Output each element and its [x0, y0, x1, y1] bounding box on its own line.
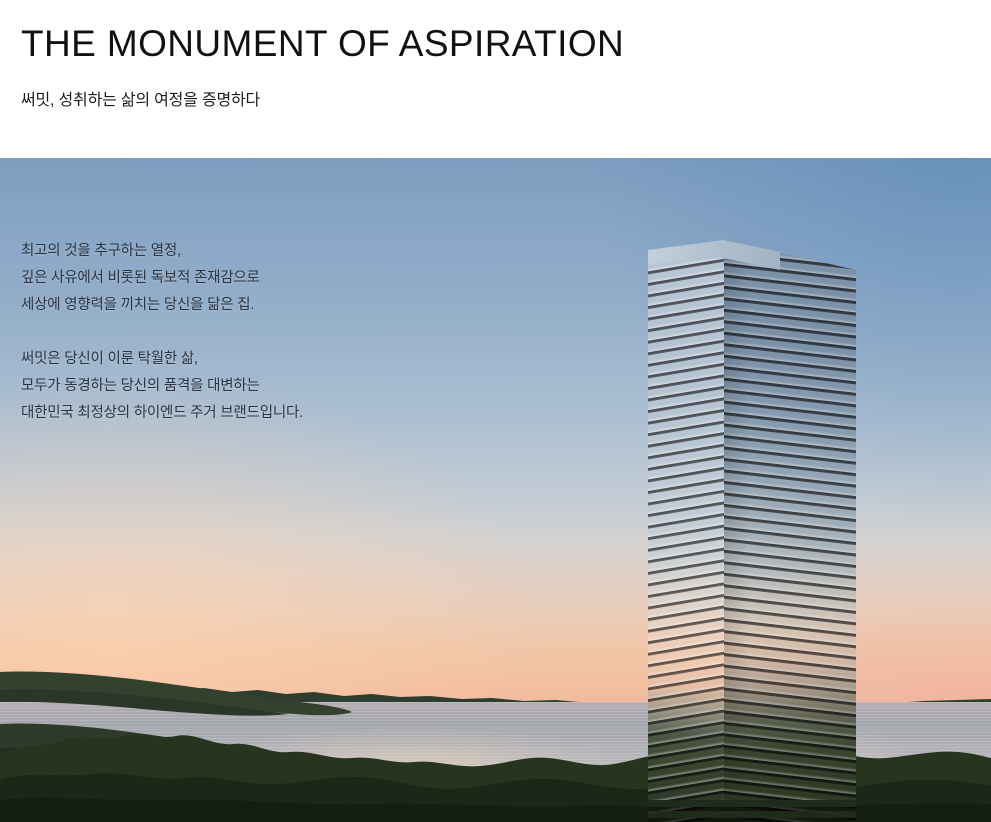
page-root: THE MONUMENT OF ASPIRATION 써밋, 성취하는 삶의 여… — [0, 0, 991, 822]
hero-copy-line-4: 써밋은 당신이 이룬 탁월한 삶, — [21, 346, 303, 373]
tower-corner-shading — [724, 240, 750, 822]
hero-copy-line-3: 세상에 영향력을 끼치는 당신을 닮은 집. — [21, 292, 303, 319]
page-header: THE MONUMENT OF ASPIRATION 써밋, 성취하는 삶의 여… — [0, 0, 991, 158]
hero-copy-line-1: 최고의 것을 추구하는 열정, — [21, 238, 303, 265]
tower-face-left — [648, 240, 724, 822]
tower-slab-stripes-left — [648, 240, 724, 822]
page-subtitle: 써밋, 성취하는 삶의 여정을 증명하다 — [21, 86, 260, 110]
hero-copy-line-2: 깊은 사유에서 비롯된 독보적 존재감으로 — [21, 265, 303, 292]
hero-copy-line-6: 대한민국 최정상의 하이엔드 주거 브랜드입니다. — [21, 400, 303, 427]
hero-copy-block: 최고의 것을 추구하는 열정, 깊은 사유에서 비롯된 독보적 존재감으로 세상… — [21, 238, 303, 427]
monument-tower — [648, 240, 856, 822]
tower-base-slabs — [648, 800, 856, 822]
hero-copy-line-5: 모두가 동경하는 당신의 품격을 대변하는 — [21, 373, 303, 400]
hero-copy-spacer — [21, 319, 303, 346]
page-title: THE MONUMENT OF ASPIRATION — [21, 24, 624, 65]
tower-face-right — [724, 240, 856, 822]
hero-image: 최고의 것을 추구하는 열정, 깊은 사유에서 비롯된 독보적 존재감으로 세상… — [0, 158, 991, 822]
